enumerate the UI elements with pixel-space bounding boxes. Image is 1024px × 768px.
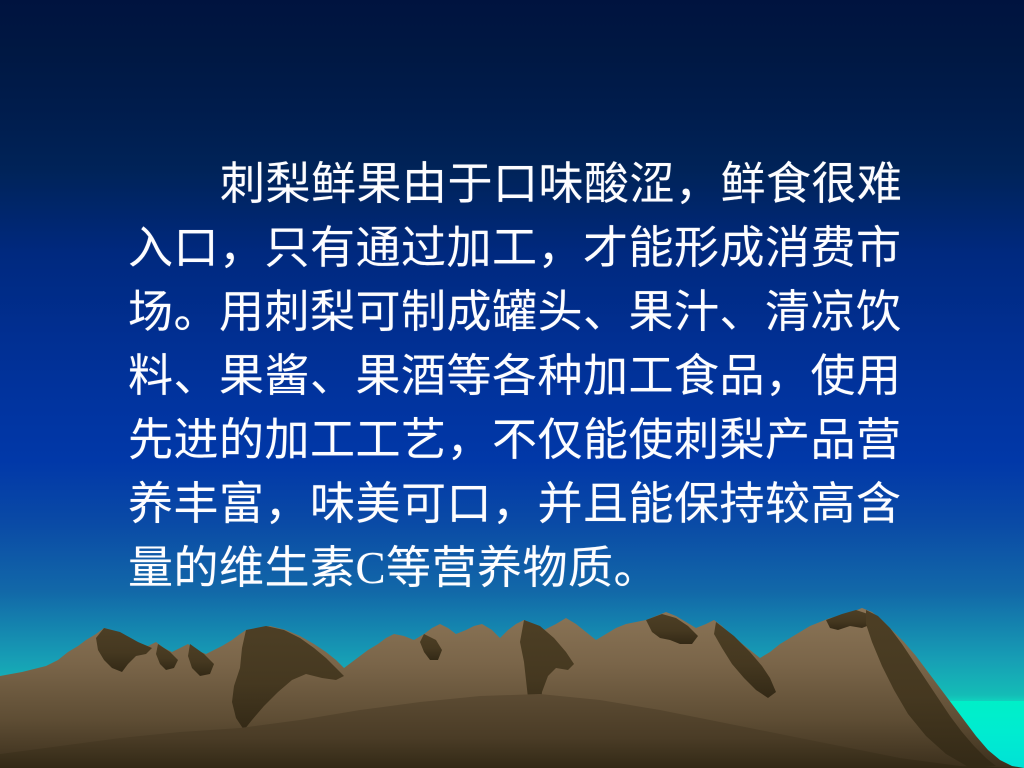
presentation-slide: 刺梨鲜果由于口味酸涩，鲜食很难入口，只有通过加工，才能形成消费市场。用刺梨可制成… [0,0,1024,768]
slide-body-text: 刺梨鲜果由于口味酸涩，鲜食很难入口，只有通过加工，才能形成消费市场。用刺梨可制成… [128,152,928,600]
